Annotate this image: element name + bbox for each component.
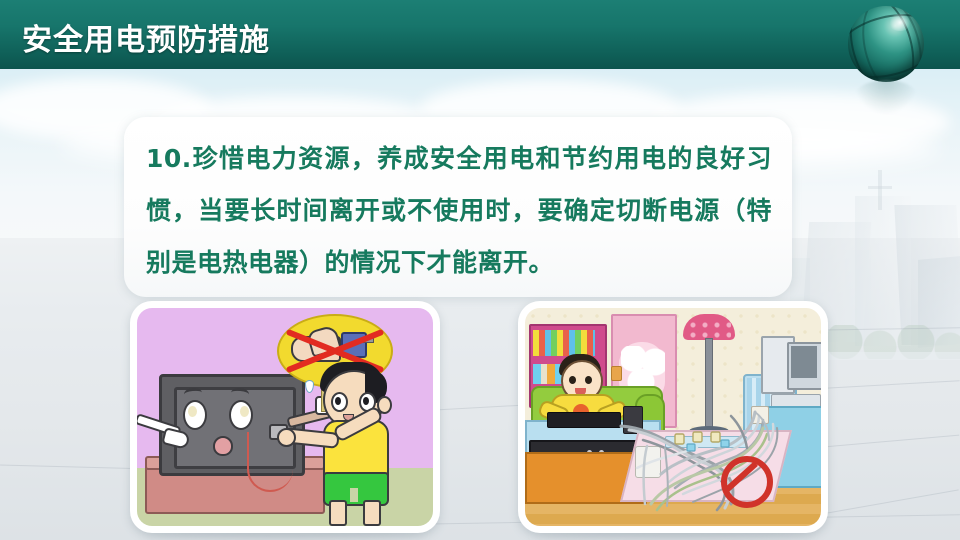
boy-shorts-gap bbox=[350, 488, 358, 502]
tv-mouth bbox=[213, 436, 233, 456]
image-card-left[interactable] bbox=[130, 301, 440, 533]
boy-pupil bbox=[335, 397, 341, 405]
illustration-wet-hands-plug bbox=[137, 308, 433, 526]
slide-root: 安全用电预防措施 10.珍惜电力资源，养成安全用电和节约用电的良好习惯，当要长时… bbox=[0, 0, 960, 540]
prohibition-sign bbox=[721, 456, 773, 508]
boy-leg bbox=[329, 500, 347, 526]
body-paragraph: 10.珍惜电力资源，养成安全用电和节约用电的良好习惯，当要长时间离开或不使用时，… bbox=[146, 133, 772, 289]
building-spire bbox=[878, 170, 882, 210]
content-panel: 10.珍惜电力资源，养成安全用电和节约用电的良好习惯，当要长时间离开或不使用时，… bbox=[124, 117, 792, 297]
boy-pupil bbox=[363, 397, 369, 405]
illustration-overloaded-sockets bbox=[525, 308, 821, 526]
boy-hand bbox=[277, 428, 296, 447]
sphere-highlight bbox=[888, 14, 912, 31]
image-card-right[interactable] bbox=[518, 301, 828, 533]
sphere-icon bbox=[848, 6, 924, 82]
logo bbox=[848, 6, 936, 116]
boy-leg bbox=[363, 500, 381, 526]
page-title: 安全用电预防措施 bbox=[22, 15, 270, 59]
title-bar: 安全用电预防措施 bbox=[0, 0, 960, 69]
tv-pupil bbox=[188, 406, 197, 417]
tangled-cables bbox=[525, 308, 821, 526]
sphere-reflection bbox=[854, 80, 918, 114]
building-spire bbox=[868, 186, 892, 189]
tv-pupil bbox=[240, 406, 249, 417]
